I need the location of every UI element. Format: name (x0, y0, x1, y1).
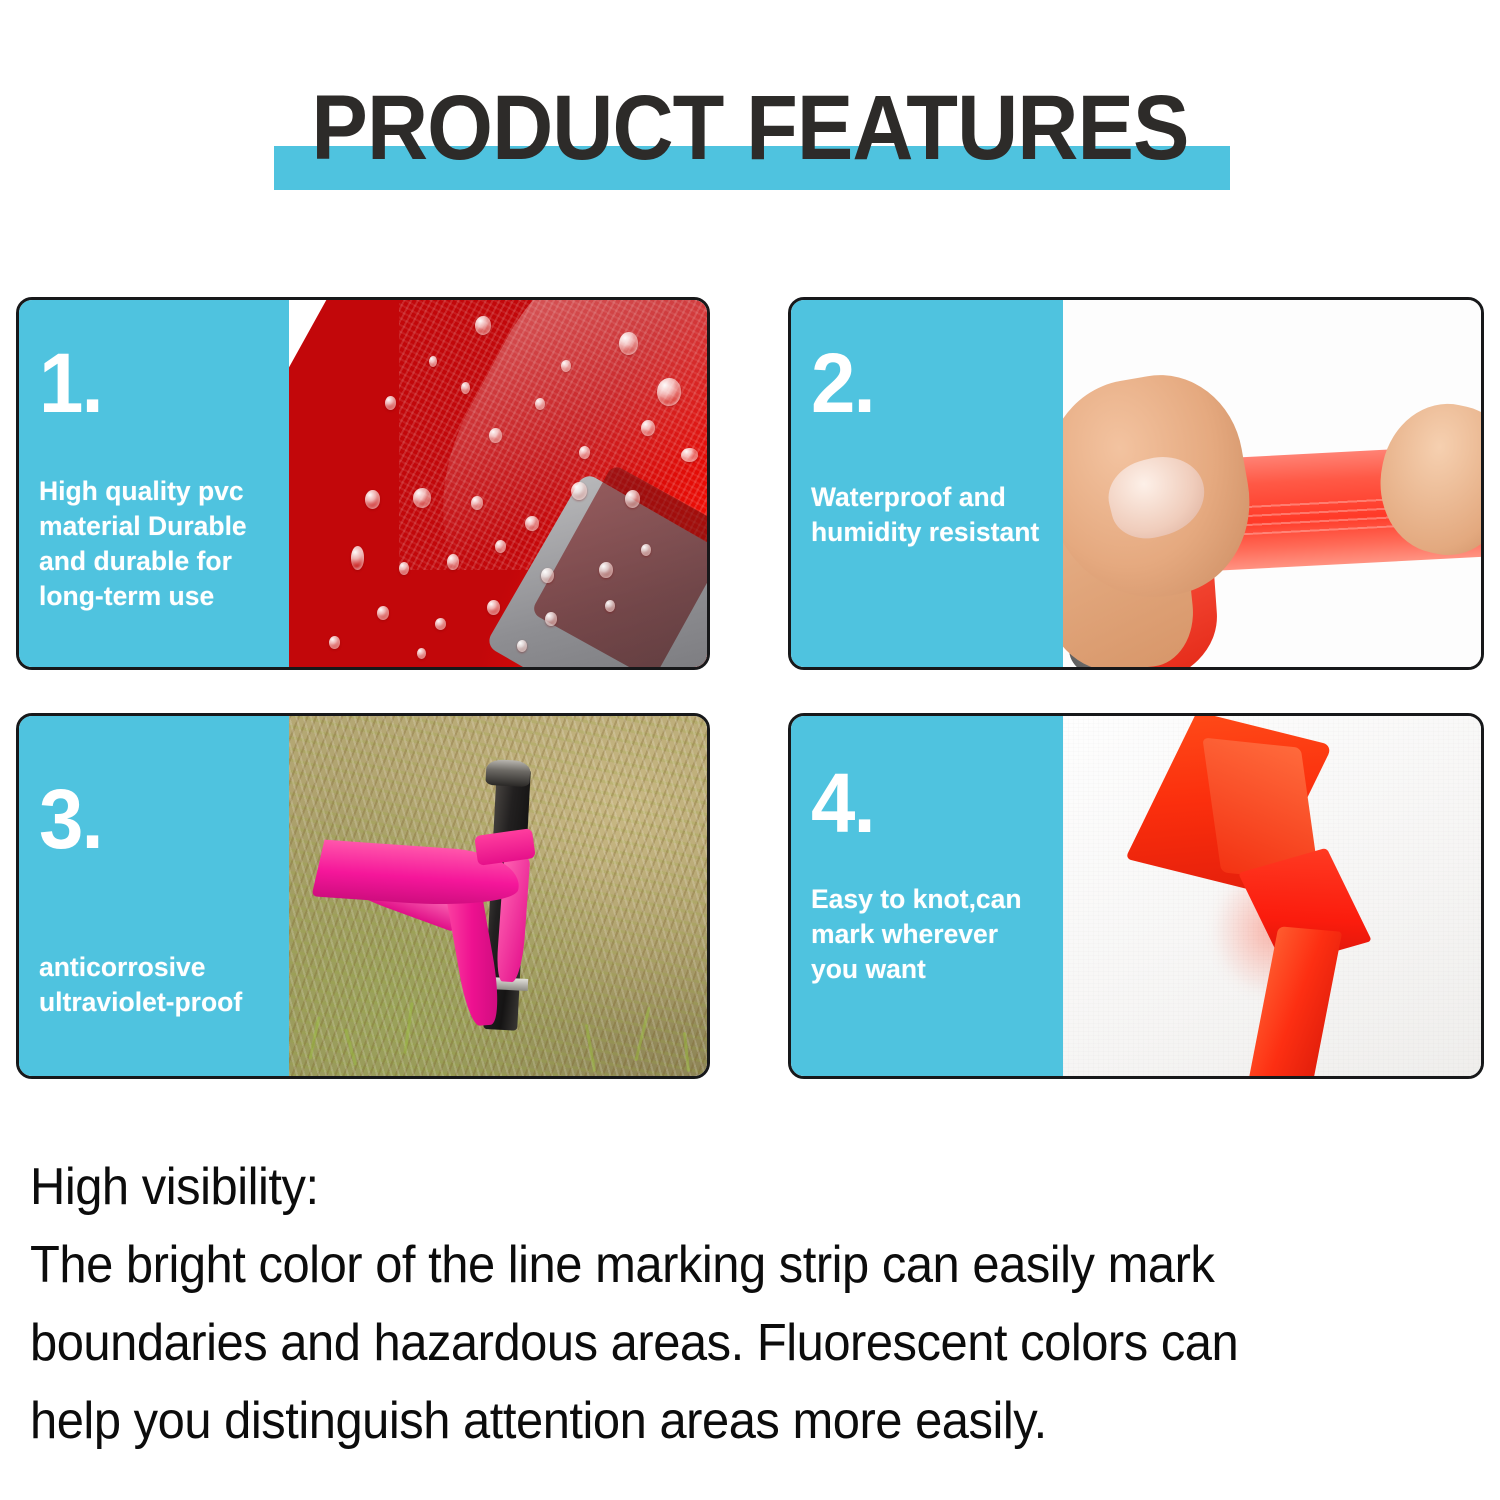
water-droplet (525, 516, 539, 531)
feature-card-4-description: Easy to knot,can mark wherever you want (811, 882, 1081, 987)
feature-card-3-panel: 3. anticorrosive ultraviolet-proof (19, 716, 289, 1076)
feature-card-1-panel: 1. High quality pvc material Durable and… (19, 300, 289, 667)
feature-card-4-panel: 4. Easy to knot,can mark wherever you wa… (791, 716, 1063, 1076)
feature-card-2-panel: 2. Waterproof and humidity resistant (791, 300, 1063, 667)
water-droplet (657, 378, 681, 406)
water-droplet (495, 540, 506, 553)
high-visibility-line-3: help you distinguish attention areas mor… (30, 1382, 1393, 1460)
water-droplet (535, 398, 545, 410)
feature-card-1[interactable]: 1. High quality pvc material Durable and… (16, 297, 710, 670)
water-droplet (517, 640, 527, 652)
water-droplet (417, 648, 426, 659)
feature-card-3-image (289, 716, 707, 1076)
water-droplet (561, 360, 571, 372)
water-droplet (413, 488, 431, 508)
grass-blade (634, 1006, 650, 1061)
water-droplet (641, 544, 651, 556)
feature-card-1-image (289, 300, 707, 667)
feature-card-3[interactable]: 3. anticorrosive ultraviolet-proof (16, 713, 710, 1079)
water-droplet (377, 606, 389, 620)
feature-card-4[interactable]: 4. Easy to knot,can mark wherever you wa… (788, 713, 1484, 1079)
grass-blade (403, 1002, 413, 1054)
water-droplet (641, 420, 655, 436)
high-visibility-line-2: boundaries and hazardous areas. Fluoresc… (30, 1304, 1393, 1382)
high-visibility-line-1: The bright color of the line marking str… (30, 1226, 1393, 1304)
water-droplet (571, 482, 587, 500)
feature-card-3-description: anticorrosive ultraviolet-proof (39, 950, 309, 1020)
page-title: PRODUCT FEATURES (60, 78, 1440, 178)
water-droplet (461, 382, 470, 394)
feature-card-2-description: Waterproof and humidity resistant (811, 480, 1111, 550)
water-droplet (351, 546, 364, 570)
water-droplet (619, 332, 638, 355)
water-droplet (471, 496, 483, 510)
water-droplet (329, 636, 340, 649)
page-header: PRODUCT FEATURES (0, 78, 1500, 198)
water-droplet (541, 568, 554, 583)
stake-cap (485, 759, 530, 787)
grass-blade (585, 1024, 596, 1072)
water-droplet (489, 428, 502, 443)
grass-blade (344, 1028, 357, 1065)
water-droplet (599, 562, 613, 578)
water-droplet (681, 448, 698, 462)
feature-card-grid: 1. High quality pvc material Durable and… (16, 297, 1484, 1079)
water-droplet (429, 356, 437, 367)
water-droplet (625, 490, 640, 508)
feature-card-3-number: 3. (39, 780, 277, 858)
grass-blade (308, 1016, 320, 1060)
feature-card-2-image (1063, 300, 1481, 667)
water-droplet (579, 446, 590, 459)
high-visibility-heading: High visibility: (30, 1148, 1393, 1226)
feature-card-1-number: 1. (39, 344, 277, 422)
water-droplet (605, 600, 615, 612)
water-droplet (487, 600, 500, 615)
water-droplet (545, 612, 557, 626)
high-visibility-section: High visibility: The bright color of the… (30, 1148, 1480, 1460)
water-droplet (385, 396, 396, 410)
feature-card-4-image (1063, 716, 1481, 1076)
water-droplet (399, 562, 409, 575)
grass-blade (683, 1032, 690, 1072)
feature-card-2[interactable]: 2. Waterproof and humidity resistant (788, 297, 1484, 670)
water-droplet (475, 316, 491, 335)
feature-card-4-number: 4. (811, 764, 1050, 842)
feature-card-1-description: High quality pvc material Durable and du… (39, 474, 289, 614)
water-droplet (447, 554, 459, 570)
water-droplet (365, 490, 380, 509)
water-droplet (435, 618, 446, 630)
feature-card-2-number: 2. (811, 344, 1050, 422)
